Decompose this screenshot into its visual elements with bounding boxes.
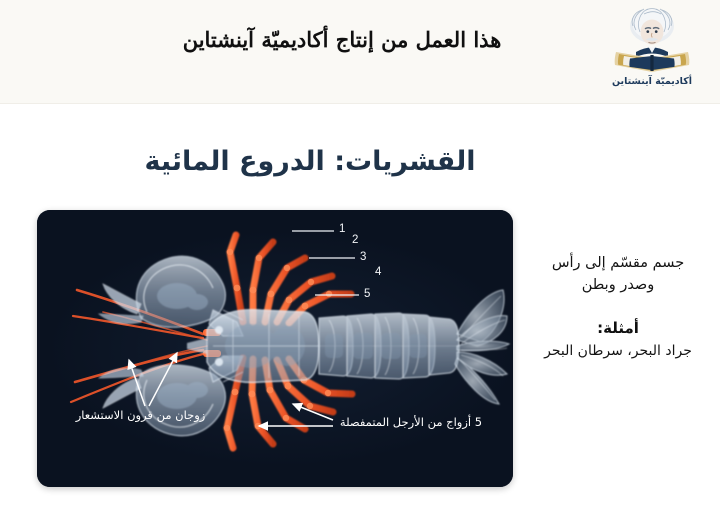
examples-heading: أمثلة: xyxy=(538,319,698,337)
slide-root: هذا العمل من إنتاج أكاديميّة آينشتاين xyxy=(0,0,720,509)
callout-number-1: 1 xyxy=(339,223,345,235)
callout-number-5: 5 xyxy=(364,288,370,300)
figure-panel: 1 2 3 4 5 زوجان من قرون الاستشعار 5 أزوا… xyxy=(37,210,513,487)
callout-number-2: 2 xyxy=(352,234,358,246)
callout-number-4: 4 xyxy=(375,266,381,278)
annotation-legs: 5 أزواج من الأرجل المتمفصلة xyxy=(337,415,485,431)
einstein-book-logo-icon xyxy=(606,6,698,78)
body-structure-description: جسم مقسّم إلى رأس وصدر وبطن xyxy=(538,253,698,297)
lobster-xray-illustration xyxy=(37,210,513,487)
examples-list: جراد البحر، سرطان البحر xyxy=(538,341,698,362)
callout-number-3: 3 xyxy=(360,251,366,263)
logo-caption: أكاديميّة آينشتاين xyxy=(592,76,712,87)
annotation-antennae: زوجان من قرون الاستشعار xyxy=(52,408,229,424)
sidebar-info: جسم مقسّم إلى رأس وصدر وبطن أمثلة: جراد … xyxy=(538,253,698,362)
header-credit-text: هذا العمل من إنتاج أكاديميّة آينشتاين xyxy=(132,26,552,53)
page-title: القشريات: الدروع المائية xyxy=(0,146,720,177)
academy-logo: أكاديميّة آينشتاين xyxy=(592,4,712,100)
